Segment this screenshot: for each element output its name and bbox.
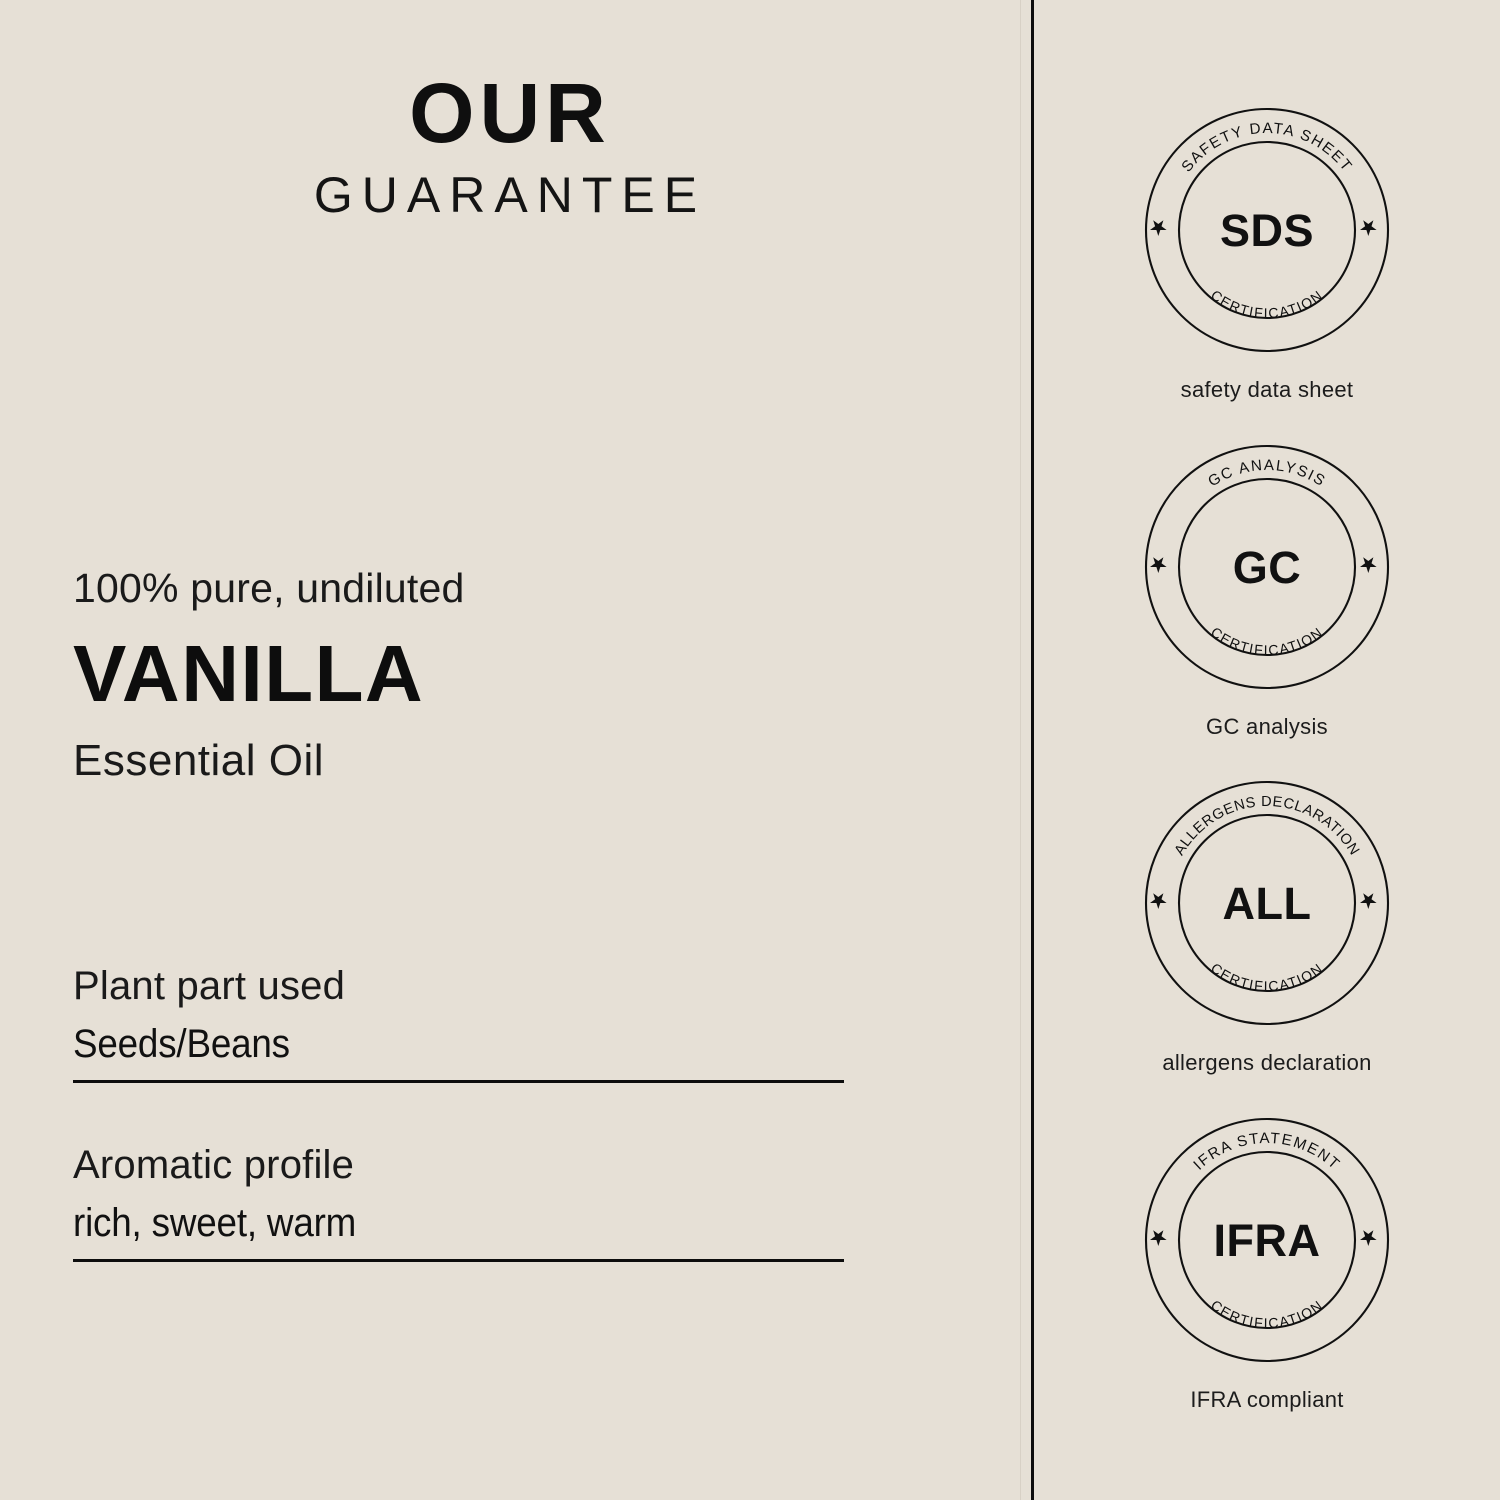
product-attributes: Plant part used Seeds/Beans Aromatic pro… [73,962,844,1262]
star-icon [1150,557,1167,573]
product-type: Essential Oil [73,736,893,787]
seal-abbr: GC [1233,542,1302,593]
star-icon [1150,893,1167,909]
attribute-value: rich, sweet, warm [73,1199,782,1247]
seal-icon: IFRA STATEMENT CERTIFICATION IFRA [1142,1115,1392,1365]
certification-badge-gc: GC ANALYSIS CERTIFICATION GC GC analysis [1034,442,1500,740]
certification-badge-ifra: IFRA STATEMENT CERTIFICATION IFRA IFRA c… [1034,1115,1500,1413]
badge-caption: allergens declaration [1034,1050,1500,1076]
badge-caption: GC analysis [1034,714,1500,740]
product-purity-text: 100% pure, undiluted [73,565,893,612]
star-icon [1360,557,1377,573]
seal-abbr: SDS [1220,205,1314,256]
star-icon [1150,1230,1167,1246]
guarantee-page: OUR GUARANTEE 100% pure, undiluted VANIL… [0,0,1500,1500]
certification-badge-allergens: ALLERGENS DECLARATION CERTIFICATION ALL … [1034,778,1500,1076]
attribute-label: Aromatic profile [73,1141,844,1189]
left-panel: OUR GUARANTEE 100% pure, undiluted VANIL… [0,0,1020,1500]
star-icon [1360,220,1377,236]
page-title-line2: GUARANTEE [0,170,1020,220]
product-summary: 100% pure, undiluted VANILLA Essential O… [73,565,893,787]
seal-top-arc-text: ALLERGENS DECLARATION [1172,794,1363,858]
page-title: OUR GUARANTEE [0,72,1020,220]
badge-caption: safety data sheet [1034,377,1500,403]
seal-bottom-arc-text: CERTIFICATION [1208,287,1326,322]
seal-icon: ALLERGENS DECLARATION CERTIFICATION ALL [1142,778,1392,1028]
star-icon [1360,893,1377,909]
star-icon [1150,220,1167,236]
seal-bottom-arc-text: CERTIFICATION [1208,960,1326,995]
attribute-value: Seeds/Beans [73,1020,782,1068]
attribute-label: Plant part used [73,962,844,1010]
seal-icon: SAFETY DATA SHEET CERTIFICATION SDS [1142,105,1392,355]
star-icon [1360,1230,1377,1246]
seal-icon: GC ANALYSIS CERTIFICATION GC [1142,442,1392,692]
certifications-panel: SAFETY DATA SHEET CERTIFICATION SDS safe… [1034,0,1500,1500]
attribute-row-aromatic-profile: Aromatic profile rich, sweet, warm [73,1141,844,1262]
seal-bottom-arc-text: CERTIFICATION [1208,624,1326,659]
seal-bottom-arc-text: CERTIFICATION [1208,1297,1326,1332]
seal-abbr: ALL [1223,878,1312,929]
product-name: VANILLA [73,634,893,714]
panel-divider-faint [1020,0,1021,1500]
page-title-line1: OUR [0,72,1020,154]
seal-abbr: IFRA [1214,1215,1321,1266]
seal-top-arc-text: GC ANALYSIS [1205,457,1329,491]
badge-caption: IFRA compliant [1034,1387,1500,1413]
attribute-row-plant-part: Plant part used Seeds/Beans [73,962,844,1083]
certification-badge-sds: SAFETY DATA SHEET CERTIFICATION SDS safe… [1034,105,1500,403]
